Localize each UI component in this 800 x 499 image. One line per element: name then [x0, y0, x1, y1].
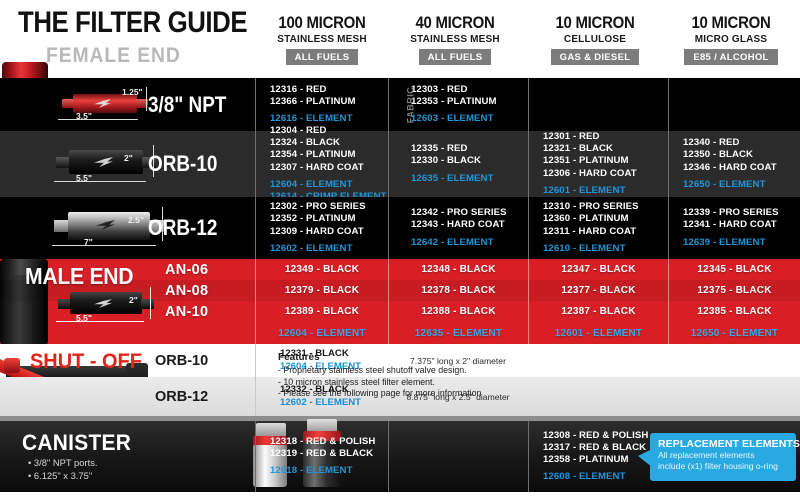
canister-bullet: • 3/8" NPT ports.: [28, 457, 97, 468]
row-product-area: 7" 2.5" ORB-12: [0, 197, 255, 259]
table-row-an10: AN-10 12389 - BLACK 12388 - BLACK 12387 …: [0, 301, 800, 322]
part-number: 12304 - RED: [270, 125, 388, 137]
part-number: 12377 - BLACK: [561, 285, 635, 296]
part-number: 12309 - HARD COAT: [270, 226, 388, 238]
column-media-label: STAINLESS MESH: [260, 33, 384, 45]
row-cells: 12379 - BLACK 12378 - BLACK 12377 - BLAC…: [255, 280, 800, 301]
feature-item: - 10 micron stainless steel filter eleme…: [278, 377, 578, 389]
female-end-table: 3.5" 1.25" 3/8" NPT 12316 - RED 12366 - …: [0, 78, 800, 492]
section-title-female-end: FEMALE END: [46, 44, 259, 68]
callout-title: REPLACEMENT ELEMENTS: [658, 438, 790, 450]
part-number: 12311 - HARD COAT: [543, 226, 668, 238]
callout-line: All replacement elements: [658, 450, 790, 461]
part-number: 12379 - BLACK: [285, 285, 359, 296]
cell-40-micron: 12378 - BLACK: [388, 280, 528, 301]
part-number: 12347 - BLACK: [561, 264, 635, 275]
cell-100-micron: 12316 - RED 12366 - PLATINUM 12616 - ELE…: [255, 78, 388, 131]
part-number: 12339 - PRO SERIES: [683, 207, 800, 219]
cell-40-micron: [388, 421, 528, 492]
canister-bullet: • 6.125" x 3.75": [28, 470, 92, 481]
callout-line: include (x1) filter housing o-ring: [658, 461, 790, 472]
cell-10-micron-cellulose: 12301 - RED 12321 - BLACK 12351 - PLATIN…: [528, 131, 668, 197]
dimension-diameter-label: 2": [124, 153, 133, 163]
replacement-elements-callout: REPLACEMENT ELEMENTS All replacement ele…: [650, 433, 796, 481]
part-number: 12385 - BLACK: [697, 306, 771, 317]
dimension-length-label: 3.5": [76, 111, 92, 121]
row-label-an10: AN-10: [165, 304, 208, 320]
part-number: 12302 - PRO SERIES: [270, 201, 388, 213]
part-number: 12360 - PLATINUM: [543, 213, 668, 225]
table-row-orb10: 5.5" 2" ORB-10 12304 - RED 12324 - BLACK…: [0, 131, 800, 197]
row-label-an06: AN-06: [165, 262, 208, 278]
element-part-number: 12639 - ELEMENT: [683, 237, 800, 249]
element-part-number: 12616 - ELEMENT: [270, 113, 388, 125]
part-number: 12343 - HARD COAT: [411, 219, 528, 231]
part-number: 12350 - BLACK: [683, 149, 800, 161]
part-number: 12341 - HARD COAT: [683, 219, 800, 231]
cell-40-micron: 12388 - BLACK: [388, 301, 528, 322]
element-part-number: 12635 - ELEMENT: [415, 328, 502, 339]
row-label-an08: AN-08: [165, 283, 208, 299]
cell-100-micron: 12304 - RED 12324 - BLACK 12354 - PLATIN…: [255, 131, 388, 197]
part-number: 12319 - RED & BLACK: [270, 448, 388, 460]
feature-item: - Proprietary stainless steel shutoff va…: [278, 365, 578, 377]
cell-10-micron-microglass: 12650 - ELEMENT: [668, 322, 800, 344]
column-media-label: CELLULOSE: [533, 33, 657, 45]
cell-100-micron: 12349 - BLACK: [255, 259, 388, 280]
cell-10-micron-cellulose: [528, 78, 668, 131]
feature-item: - Please see the following page for more…: [278, 388, 578, 400]
column-micron-label: 40 MICRON: [398, 14, 512, 31]
row-product-area: 5.5" 2" ORB-10: [0, 131, 255, 197]
cell-10-micron-microglass: 12375 - BLACK: [668, 280, 800, 301]
title-block: THE FILTER GUIDE FEMALE END: [18, 8, 278, 68]
cell-100-micron: 12604 - ELEMENT: [255, 322, 388, 344]
features-title: Features: [278, 352, 578, 363]
cell-100-micron: 12318 - RED & POLISH 12319 - RED & BLACK…: [255, 421, 388, 492]
row-label-orb12: ORB-12: [155, 389, 208, 405]
fabric-tag: FABRIC: [405, 86, 415, 123]
column-micron-label: 10 MICRON: [673, 14, 789, 31]
row-label-npt: 3/8" NPT: [148, 92, 226, 118]
row-cells: 12604 - ELEMENT 12635 - ELEMENT 12601 - …: [255, 322, 800, 344]
column-micron-label: 100 MICRON: [265, 14, 379, 31]
row-cells: 12389 - BLACK 12388 - BLACK 12387 - BLAC…: [255, 301, 800, 322]
column-media-label: STAINLESS MESH: [393, 33, 517, 45]
features-box: Features - Proprietary stainless steel s…: [278, 352, 578, 400]
table-row-male-elements: 12604 - ELEMENT 12635 - ELEMENT 12601 - …: [0, 322, 800, 344]
row-label-orb10: ORB-10: [148, 151, 217, 177]
canister-section: CANISTER • 3/8" NPT ports. • 6.125" x 3.…: [0, 421, 800, 492]
part-number: 12301 - RED: [543, 131, 668, 143]
part-number: 12330 - BLACK: [411, 155, 528, 167]
part-number: 12353 - PLATINUM: [411, 96, 528, 108]
dimension-line-length: [58, 119, 138, 120]
column-micron-label: 10 MICRON: [538, 14, 652, 31]
cell-10-micron-microglass: [668, 78, 800, 131]
part-number: 12387 - BLACK: [561, 306, 635, 317]
element-part-number: 12610 - ELEMENT: [543, 243, 668, 255]
part-number: 12366 - PLATINUM: [270, 96, 388, 108]
cell-40-micron: 12342 - PRO SERIES 12343 - HARD COAT 126…: [388, 197, 528, 259]
row-cells: 12304 - RED 12324 - BLACK 12354 - PLATIN…: [255, 131, 800, 197]
part-number: 12351 - PLATINUM: [543, 155, 668, 167]
row-cells: 12349 - BLACK 12348 - BLACK 12347 - BLAC…: [255, 259, 800, 280]
cell-40-micron: FABRIC 12303 - RED 12353 - PLATINUM 1260…: [388, 78, 528, 131]
cell-10-micron-microglass: 12385 - BLACK: [668, 301, 800, 322]
part-number: 12335 - RED: [411, 143, 528, 155]
row-product-area: 3.5" 1.25" 3/8" NPT: [0, 78, 255, 131]
row-cells: 12316 - RED 12366 - PLATINUM 12616 - ELE…: [255, 78, 800, 131]
cell-10-micron-cellulose: 12377 - BLACK: [528, 280, 668, 301]
cell-10-micron-cellulose: 12347 - BLACK: [528, 259, 668, 280]
element-part-number: 12618 - ELEMENT: [270, 465, 388, 477]
cell-10-micron-cellulose: 12387 - BLACK: [528, 301, 668, 322]
element-part-number: 12604 - ELEMENT: [278, 328, 365, 339]
cell-40-micron: 12635 - ELEMENT: [388, 322, 528, 344]
dimension-line-length: [54, 181, 146, 182]
dimension-length-label: 5.5": [76, 173, 92, 183]
column-fuel-badge: ALL FUELS: [286, 49, 359, 65]
column-fuel-badge: E85 / ALCOHOL: [684, 49, 777, 65]
dimension-diameter-label: 2.5": [128, 215, 144, 225]
filter-guide-page: THE FILTER GUIDE FEMALE END 100 MICRON S…: [0, 0, 800, 499]
element-part-number: 12601 - ELEMENT: [543, 185, 668, 197]
element-part-number: 12650 - ELEMENT: [683, 179, 800, 191]
part-number: 12303 - RED: [411, 84, 528, 96]
cell-100-micron: 12302 - PRO SERIES 12352 - PLATINUM 1230…: [255, 197, 388, 259]
page-title: THE FILTER GUIDE: [18, 8, 242, 38]
cell-10-micron-microglass: 12339 - PRO SERIES 12341 - HARD COAT 126…: [668, 197, 800, 259]
part-number: 12306 - HARD COAT: [543, 168, 668, 180]
element-part-number: 12601 - ELEMENT: [555, 328, 642, 339]
cell-10-micron-cellulose: 12601 - ELEMENT: [528, 322, 668, 344]
male-end-section: MALE END 5.5" 2" AN-06 12349 - BLACK 123…: [0, 259, 800, 344]
row-label-orb12: ORB-12: [148, 215, 217, 241]
row-cells: 12302 - PRO SERIES 12352 - PLATINUM 1230…: [255, 197, 800, 259]
part-number: 12346 - HARD COAT: [683, 162, 800, 174]
table-row-an08: AN-08 12379 - BLACK 12378 - BLACK 12377 …: [0, 280, 800, 301]
part-number: 12345 - BLACK: [697, 264, 771, 275]
column-media-label: MICRO GLASS: [668, 33, 793, 45]
part-number: 12342 - PRO SERIES: [411, 207, 528, 219]
cell-10-micron-cellulose: 12310 - PRO SERIES 12360 - PLATINUM 1231…: [528, 197, 668, 259]
column-header-3: 10 MICRON MICRO GLASS E85 / ALCOHOL: [665, 14, 797, 65]
table-row-an06: AN-06 12349 - BLACK 12348 - BLACK 12347 …: [0, 259, 800, 280]
part-number: 12388 - BLACK: [421, 306, 495, 317]
column-fuel-badge: ALL FUELS: [419, 49, 492, 65]
part-number: 12354 - PLATINUM: [270, 149, 388, 161]
cell-40-micron: 12348 - BLACK: [388, 259, 528, 280]
element-part-number: 12642 - ELEMENT: [411, 237, 528, 249]
dimension-diameter-label: 1.25": [122, 87, 143, 97]
element-part-number: 12603 - ELEMENT: [411, 113, 528, 125]
element-part-number: 12650 - ELEMENT: [691, 328, 778, 339]
part-number: 12375 - BLACK: [697, 285, 771, 296]
shut-off-section: SHUT - OFF ORB-10 12331 - BLACK 12604 - …: [0, 344, 800, 416]
dimension-line-length: [52, 245, 156, 246]
part-number: 12389 - BLACK: [285, 306, 359, 317]
part-number: 12349 - BLACK: [285, 264, 359, 275]
section-title-canister: CANISTER: [22, 430, 131, 456]
part-number: 12378 - BLACK: [421, 285, 495, 296]
column-header-2: 10 MICRON CELLULOSE GAS & DIESEL: [530, 14, 660, 65]
column-header-0: 100 MICRON STAINLESS MESH ALL FUELS: [257, 14, 387, 65]
element-part-number: 12604 - ELEMENT: [270, 179, 388, 191]
element-part-number: 12635 - ELEMENT: [411, 173, 528, 185]
part-number: 12316 - RED: [270, 84, 388, 96]
part-number: 12307 - HARD COAT: [270, 162, 388, 174]
column-fuel-badge: GAS & DIESEL: [551, 49, 640, 65]
cell-40-micron: 12335 - RED 12330 - BLACK 12635 - ELEMEN…: [388, 131, 528, 197]
column-header-1: 40 MICRON STAINLESS MESH ALL FUELS: [390, 14, 520, 65]
cell-10-micron-microglass: 12345 - BLACK: [668, 259, 800, 280]
filter-drawing-orb10: [56, 149, 156, 175]
part-number: 12348 - BLACK: [421, 264, 495, 275]
table-row-orb12: 7" 2.5" ORB-12 12302 - PRO SERIES 12352 …: [0, 197, 800, 259]
part-number: 12318 - RED & POLISH: [270, 436, 388, 448]
part-number: 12352 - PLATINUM: [270, 213, 388, 225]
cell-100-micron: 12379 - BLACK: [255, 280, 388, 301]
row-label-orb10: ORB-10: [155, 353, 208, 369]
dimension-length-label: 7": [84, 237, 93, 247]
table-row-npt: 3.5" 1.25" 3/8" NPT 12316 - RED 12366 - …: [0, 78, 800, 131]
dimension-line-diameter: [146, 87, 147, 111]
part-number: 12324 - BLACK: [270, 137, 388, 149]
cell-100-micron: 12389 - BLACK: [255, 301, 388, 322]
cell-10-micron-microglass: 12340 - RED 12350 - BLACK 12346 - HARD C…: [668, 131, 800, 197]
part-number: 12340 - RED: [683, 137, 800, 149]
part-number: 12310 - PRO SERIES: [543, 201, 668, 213]
part-number: 12321 - BLACK: [543, 143, 668, 155]
element-part-number: 12602 - ELEMENT: [270, 243, 388, 255]
